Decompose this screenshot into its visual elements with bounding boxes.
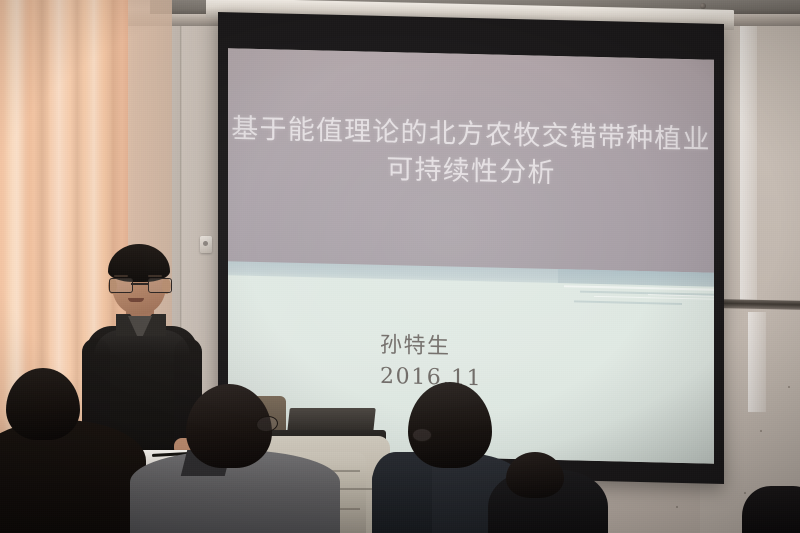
glasses-bridge: [131, 283, 148, 285]
presenter-mouth: [128, 298, 144, 302]
audience-far-right-corner: [742, 486, 800, 533]
audience-right-dark-head: [506, 452, 564, 498]
wall-speck: [744, 492, 746, 494]
slide-title: 基于能值理论的北方农牧交错带种植业 可持续性分析: [228, 110, 714, 196]
glasses-icon: [412, 428, 432, 442]
glasses-icon: [109, 278, 170, 291]
slide-author: 孙特生: [380, 327, 451, 361]
presenter-brow-left: [114, 275, 128, 277]
presentation-photo-scene: ⚠ 基于能值理论的北方农牧交错带种植业 可持续性分析 孙特生: [0, 0, 800, 533]
audience-checkered-vest-panel: [372, 452, 432, 533]
wall-rail: [724, 299, 800, 310]
audience-left-dark-body: [0, 420, 146, 533]
glasses-lens-left: [109, 278, 133, 293]
wall-speck: [788, 386, 790, 388]
glasses-lens-right: [148, 278, 172, 293]
wall-panel-strip-upper: [740, 0, 757, 302]
beam-screw-icon: [700, 3, 706, 9]
presenter-brow-right: [148, 275, 162, 277]
wall-speck: [676, 506, 678, 508]
wall-panel-strip-lower: [748, 312, 766, 412]
wall-speck: [760, 430, 762, 432]
